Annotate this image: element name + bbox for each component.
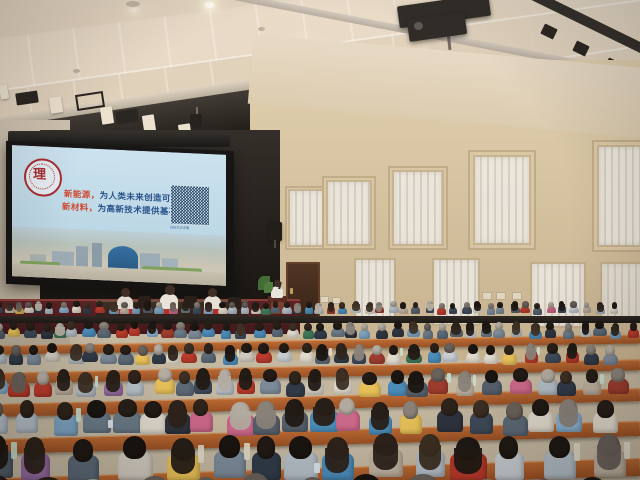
audience-area	[0, 300, 640, 480]
audience-member-head	[333, 321, 342, 329]
audience-member-head	[549, 436, 570, 459]
wall-outlet	[512, 292, 522, 300]
audience-member-head	[468, 344, 478, 354]
audience-member-head	[413, 302, 419, 308]
audience-member-head	[37, 371, 49, 385]
audience-member-hair	[408, 349, 420, 361]
audience-member-head	[154, 344, 164, 354]
audience-member-head	[497, 302, 502, 308]
acoustic-panel	[392, 170, 444, 246]
audience-member-hair	[313, 407, 334, 427]
audience-member-head	[131, 321, 138, 329]
audience-member-hair	[336, 375, 350, 390]
audience-member-head	[273, 321, 281, 329]
audience-member-head	[302, 343, 311, 353]
campus-dome-building	[108, 246, 138, 269]
projector-lens-icon	[414, 22, 423, 30]
audience-member-head	[586, 369, 598, 383]
audience-member-hair	[308, 376, 321, 391]
audience-member-hair	[55, 327, 64, 336]
ceiling-vent	[126, 1, 140, 7]
audience-member-head	[289, 371, 302, 385]
audience-member-head	[241, 343, 252, 353]
audience-member-head	[73, 301, 79, 307]
audience-member-hair	[454, 448, 482, 473]
audience-member-head	[473, 400, 489, 418]
audience-member-head	[20, 400, 35, 418]
audience-member-head	[204, 343, 214, 353]
audience-member-head	[441, 398, 458, 416]
audience-member-head	[128, 370, 140, 384]
audience-member-head	[25, 302, 31, 308]
audience-member-head	[486, 345, 495, 355]
audience-member-head	[204, 321, 212, 329]
audience-member-head	[316, 323, 324, 331]
audience-member-hair	[78, 378, 93, 393]
audience-member-head	[547, 343, 558, 353]
audience-member-hair	[315, 306, 322, 313]
hanging-speaker	[190, 114, 202, 128]
audience-member-head	[158, 368, 172, 382]
audience-member-head	[43, 323, 50, 331]
audience-member-head	[194, 302, 199, 308]
audience-member-head	[485, 370, 498, 384]
mobile-phone	[314, 463, 321, 473]
audience-member-head	[595, 321, 604, 329]
mobile-phone	[108, 420, 113, 427]
audience-member-hair	[366, 305, 373, 312]
water-bottle	[11, 442, 17, 460]
audience-member-head	[144, 401, 162, 419]
audience-member-hair	[466, 326, 474, 335]
audience-member-hair	[237, 327, 245, 336]
qr-code-caption: 扫码关注详情	[170, 224, 189, 230]
audience-member-hair	[336, 348, 347, 360]
audience-member-head	[263, 303, 270, 309]
audience-member-head	[46, 302, 52, 308]
audience-member-head	[87, 400, 105, 418]
acoustic-panel	[326, 180, 372, 246]
audience-member-hair	[373, 444, 398, 469]
water-bottle	[95, 376, 98, 386]
audience-member-hair	[451, 326, 461, 335]
audience-member-hair	[408, 378, 424, 393]
audience-member-hair	[316, 349, 327, 361]
audience-member-head	[495, 322, 503, 330]
water-bottle	[400, 348, 403, 356]
audience-member-hair	[328, 305, 334, 312]
audience-member-head	[394, 321, 402, 329]
audience-member-head	[179, 371, 190, 385]
audience-member-head	[378, 323, 386, 331]
audience-member-head	[565, 323, 572, 331]
audience-member-head	[488, 303, 494, 309]
audience-member-hair	[294, 306, 301, 313]
audience-member-head	[117, 323, 125, 331]
campus-building	[76, 246, 88, 267]
water-bottle	[624, 442, 630, 460]
audience-member-hair	[11, 378, 27, 393]
audience-member-hair	[24, 448, 46, 473]
audience-member-head	[391, 370, 404, 384]
audience-member-hair	[171, 449, 195, 474]
audience-member-hair	[205, 305, 212, 312]
audience-member-head	[289, 436, 312, 459]
audience-member-hair	[225, 350, 236, 362]
audience-member-hair	[531, 327, 541, 336]
audience-member-head	[499, 436, 518, 459]
audience-member-head	[532, 399, 550, 417]
audience-member-head	[184, 343, 195, 353]
audience-member-hair	[168, 409, 188, 429]
audience-member-hair	[419, 445, 441, 470]
acoustic-panel	[473, 155, 531, 245]
wall-outlet	[482, 292, 492, 300]
audience-member-head	[450, 303, 455, 309]
audience-member-hair	[482, 325, 491, 334]
ceiling-vent	[258, 27, 265, 31]
audience-member-head	[400, 302, 406, 308]
audience-member-head	[279, 343, 289, 353]
audience-member-head	[257, 436, 276, 459]
audience-member-head	[513, 368, 528, 382]
projection-screen: 理 新能源，为人类未来创造可能！ 新材料，为高新技术提供基石！ 扫码关注详情 主…	[12, 145, 226, 286]
audience-member-head	[57, 402, 73, 420]
audience-member-head	[85, 343, 96, 353]
audience-member-head	[612, 302, 617, 308]
ceiling-downlight	[131, 8, 137, 12]
audience-member-head	[570, 301, 577, 307]
audience-member-hair	[597, 305, 604, 312]
audience-member-hair	[35, 304, 41, 311]
audience-member-hair	[409, 325, 418, 334]
panelist-head	[165, 285, 175, 295]
water-bottle	[473, 375, 476, 385]
audience-member-head	[339, 302, 345, 308]
lecture-hall-photo: 理 新能源，为人类未来创造可能！ 新材料，为高新技术提供基石！ 扫码关注详情 主…	[0, 0, 640, 480]
audience-member-hair	[57, 376, 70, 391]
audience-member-head	[219, 435, 240, 458]
audience-member-hair	[371, 410, 388, 430]
audience-member-head	[504, 345, 514, 355]
ceiling-downlight	[205, 2, 214, 8]
audience-member-hair	[597, 445, 621, 470]
wall-speaker-bracket	[274, 240, 276, 248]
audience-member-head	[611, 368, 625, 382]
audience-member-head	[304, 323, 312, 331]
panelist-head	[121, 288, 130, 297]
audience-member-hair	[196, 375, 210, 390]
water-bottle	[600, 374, 603, 384]
audience-member-head	[439, 303, 445, 309]
audience-member-head	[11, 345, 20, 355]
audience-member-head	[138, 345, 148, 355]
audience-member-hair	[182, 304, 189, 311]
audience-member-head	[361, 323, 369, 331]
acoustic-panel	[288, 189, 326, 247]
water-bottle	[198, 445, 204, 463]
audience-member-head	[29, 345, 38, 355]
audience-member-head	[464, 302, 471, 308]
university-emblem-mark: 理	[33, 166, 46, 183]
audience-member-hair	[346, 326, 355, 335]
panelist-head	[208, 288, 217, 297]
audience-member-head	[263, 369, 277, 383]
audience-member-head	[176, 322, 185, 330]
audience-member-hair	[526, 348, 536, 360]
audience-member-head	[123, 436, 146, 459]
audience-member-head	[193, 399, 208, 417]
audience-member-head	[61, 302, 67, 308]
audience-member-head	[372, 345, 382, 355]
audience-member-hair	[325, 448, 349, 473]
audience-member-head	[444, 343, 454, 353]
audience-member-head	[99, 322, 108, 330]
audience-member-hair	[474, 304, 481, 311]
audience-member-head	[85, 302, 90, 308]
campus-building	[92, 243, 102, 267]
audience-member-head	[597, 400, 614, 418]
audience-member-head	[389, 345, 398, 355]
audience-member-head	[541, 369, 554, 383]
slide-headline-1-accent: 新能源，	[64, 189, 100, 201]
audience-member-head	[229, 302, 235, 308]
stage-spotlight	[100, 106, 114, 125]
slide-headline-2-accent: 新材料，	[62, 201, 98, 213]
audience-member-hair	[512, 325, 520, 334]
water-bottle	[447, 373, 450, 383]
audience-member-head	[560, 371, 573, 385]
stage-spotlight	[49, 96, 63, 114]
qr-code	[170, 184, 210, 226]
audience-member-head	[403, 401, 418, 419]
audience-member-head	[390, 301, 397, 307]
audience-member-head	[548, 302, 554, 308]
audience-member-head	[273, 301, 278, 307]
wall-speaker	[268, 222, 282, 241]
audience-member-head	[522, 301, 529, 307]
audience-member-head	[431, 368, 445, 382]
audience-member-hair	[427, 304, 433, 311]
audience-member-hair	[230, 411, 250, 431]
ceiling-vent	[73, 69, 80, 73]
audience-member-head	[103, 344, 114, 354]
audience-member-head	[120, 345, 131, 355]
audience-member-head	[506, 402, 523, 420]
audience-member-head	[630, 322, 637, 330]
audience-member-head	[289, 323, 297, 331]
door-handle-icon	[290, 288, 293, 294]
audience-member-hair	[168, 350, 178, 362]
audience-member-head	[47, 343, 57, 353]
audience-member-head	[430, 343, 439, 353]
audience-member-hair	[285, 407, 305, 427]
audience-member-head	[26, 322, 35, 330]
audience-member-head	[362, 372, 377, 386]
audience-member-head	[73, 439, 94, 462]
audience-member-hair	[239, 375, 252, 390]
audience-member-hair	[376, 305, 383, 312]
audience-member-head	[439, 323, 446, 331]
audience-member-head	[118, 399, 137, 417]
water-bottle	[329, 348, 332, 356]
audience-member-head	[258, 343, 269, 353]
audience-member-hair	[559, 407, 579, 427]
audience-member-head	[121, 302, 127, 308]
audience-member-hair	[582, 325, 590, 334]
campus-photo	[12, 226, 226, 285]
audience-member-head	[10, 321, 18, 329]
audience-member	[0, 413, 8, 434]
audience-member-head	[67, 321, 74, 329]
audience-member-head	[242, 302, 248, 308]
audience-member-head	[306, 302, 312, 308]
audience-member-head	[0, 302, 2, 308]
audience-member-head	[284, 302, 291, 308]
audience-member-hair	[70, 349, 82, 361]
audience-member-hair	[611, 327, 619, 336]
audience-member-hair	[354, 349, 364, 361]
audience-member-hair	[106, 377, 120, 392]
audience-member-hair	[218, 376, 231, 391]
audience-member-head	[339, 398, 355, 416]
audience-member-head	[134, 302, 139, 308]
potted-plant	[264, 282, 273, 293]
audience-member-head	[546, 322, 553, 330]
wall-outlet	[496, 292, 506, 300]
audience-member-hair	[110, 305, 118, 312]
water-bottle	[574, 443, 580, 461]
water-bottle	[244, 443, 250, 461]
acoustic-panel	[597, 145, 640, 247]
audience-member-head	[223, 323, 230, 331]
water-bottle	[76, 408, 80, 422]
audience-member-hair	[256, 410, 276, 430]
audience-member-hair	[352, 304, 359, 311]
audience-member-hair	[559, 304, 565, 311]
audience-member-head	[605, 345, 615, 355]
desk-row	[0, 316, 640, 323]
water-bottle	[537, 347, 540, 355]
audience-member-head	[255, 323, 263, 331]
